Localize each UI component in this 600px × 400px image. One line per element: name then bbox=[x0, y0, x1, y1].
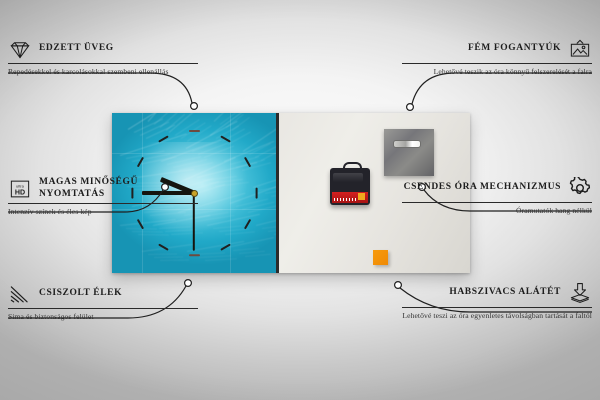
clock-mechanism-part bbox=[330, 168, 370, 205]
divider bbox=[8, 203, 198, 204]
mechanism-label bbox=[332, 192, 368, 203]
feature-foam-pad: HABSZIVACS ALÁTÉT Lehetővé teszi az óra … bbox=[402, 282, 592, 320]
foam-pad-part bbox=[373, 250, 388, 265]
ultra-hd-icon: ultra HD bbox=[8, 178, 32, 200]
feature-header: EDZETT ÜVEG bbox=[8, 38, 198, 60]
feature-subtitle: Repedésekkel és karcolásokkal szembeni e… bbox=[8, 67, 198, 76]
feature-title: CSISZOLT ÉLEK bbox=[39, 288, 122, 300]
divider bbox=[402, 63, 592, 64]
hanger-slot bbox=[393, 140, 421, 148]
picture-hanger-icon bbox=[568, 38, 592, 60]
feature-title: FÉM FOGANTYÚK bbox=[468, 43, 561, 55]
mechanism-loop bbox=[343, 162, 362, 172]
leader-tempered-glass bbox=[8, 73, 192, 103]
feature-subtitle: Lehetővé teszi az óra egyenletes távolsá… bbox=[402, 311, 592, 320]
foam-pad-icon bbox=[568, 282, 592, 304]
glass-reflection-line bbox=[230, 113, 231, 273]
feature-title: CSENDES ÓRA MECHANIZMUS bbox=[404, 182, 561, 194]
feature-subtitle: Lehetővé teszik az óra könnyű felszerelé… bbox=[402, 67, 592, 76]
feature-polished-edges: CSISZOLT ÉLEK Sima és biztonságos felüle… bbox=[8, 283, 198, 321]
feature-subtitle: Intenzív színek és éles kép bbox=[8, 207, 198, 216]
label-plus bbox=[358, 193, 365, 200]
leader-dot-foam-pad bbox=[395, 282, 402, 289]
leader-metal-handles bbox=[412, 73, 592, 104]
feature-title: MAGAS MINŐSÉGŰ NYOMTATÁS bbox=[39, 177, 198, 200]
leader-dot-tempered-glass bbox=[191, 103, 198, 110]
glass-reflection-line bbox=[112, 153, 276, 154]
feature-hd-print: ultra HD MAGAS MINŐSÉGŰ NYOMTATÁS Intenz… bbox=[8, 177, 198, 216]
feature-header: ultra HD MAGAS MINŐSÉGŰ NYOMTATÁS bbox=[8, 177, 198, 200]
feature-title: HABSZIVACS ALÁTÉT bbox=[449, 287, 561, 299]
divider bbox=[8, 308, 198, 309]
divider bbox=[402, 307, 592, 308]
feature-tempered-glass: EDZETT ÜVEG Repedésekkel és karcolásokka… bbox=[8, 38, 198, 76]
svg-text:ultra: ultra bbox=[16, 183, 24, 188]
feature-header: FÉM FOGANTYÚK bbox=[402, 38, 592, 60]
label-bars bbox=[334, 198, 356, 201]
feature-title: EDZETT ÜVEG bbox=[39, 43, 114, 55]
gear-icon bbox=[568, 177, 592, 199]
feature-subtitle: Sima és biztonságos felület bbox=[8, 312, 198, 321]
leader-dot-metal-handles bbox=[407, 104, 414, 111]
feature-subtitle: Óramutatók hang nélkül bbox=[402, 206, 592, 215]
feature-header: CSENDES ÓRA MECHANIZMUS bbox=[402, 177, 592, 199]
polished-edges-icon bbox=[8, 283, 32, 305]
divider bbox=[402, 202, 592, 203]
feature-header: HABSZIVACS ALÁTÉT bbox=[402, 282, 592, 304]
metal-hanger-part bbox=[384, 129, 434, 176]
diamond-icon bbox=[8, 38, 32, 60]
feature-silent-mechanism: CSENDES ÓRA MECHANIZMUS Óramutatók hang … bbox=[402, 177, 592, 215]
feature-metal-handles: FÉM FOGANTYÚK Lehetővé teszik az óra kön… bbox=[402, 38, 592, 76]
divider bbox=[8, 63, 198, 64]
feature-header: CSISZOLT ÉLEK bbox=[8, 283, 198, 305]
svg-text:HD: HD bbox=[15, 189, 25, 196]
mechanism-sheen bbox=[333, 173, 363, 182]
infographic-canvas: EDZETT ÜVEG Repedésekkel és karcolásokka… bbox=[0, 0, 600, 400]
